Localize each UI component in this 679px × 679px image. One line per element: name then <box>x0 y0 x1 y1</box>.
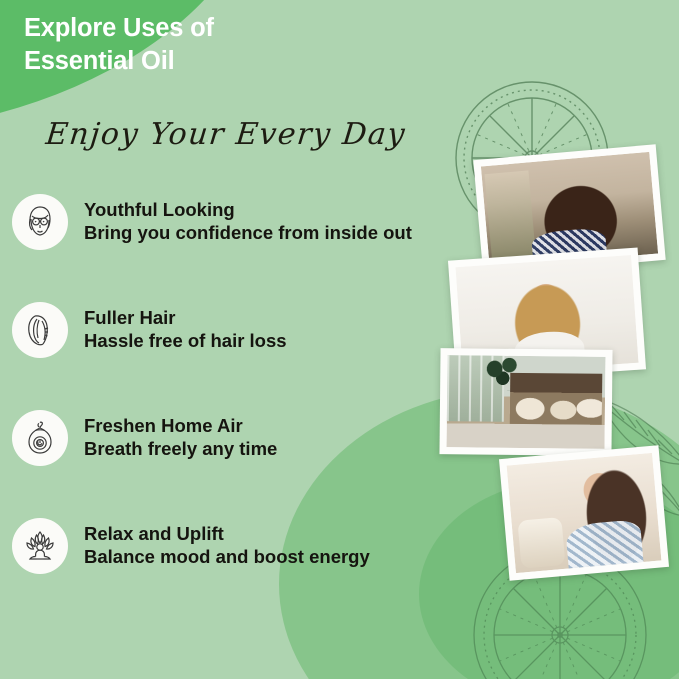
feature-subtitle: Hassle free of hair loss <box>84 330 287 353</box>
feature-item-youthful-looking: Youthful Looking Bring you confidence fr… <box>12 168 482 276</box>
page-title-line-1: Explore Uses of <box>24 12 324 45</box>
page-title-line-2: Essential Oil <box>24 45 324 78</box>
feature-text: Relax and Uplift Balance mood and boost … <box>84 523 370 568</box>
feature-text: Fuller Hair Hassle free of hair loss <box>84 307 287 352</box>
feature-title: Relax and Uplift <box>84 523 370 546</box>
page-title: Explore Uses of Essential Oil <box>24 12 324 77</box>
feature-item-relax-and-uplift: Relax and Uplift Balance mood and boost … <box>12 492 482 600</box>
feature-item-fuller-hair: Fuller Hair Hassle free of hair loss <box>12 276 482 384</box>
feature-title: Fuller Hair <box>84 307 287 330</box>
tagline: Enjoy Your Every Day <box>44 117 408 152</box>
long-hair-icon <box>12 302 68 358</box>
essential-oil-infographic: Explore Uses of Essential Oil Enjoy Your… <box>0 0 679 679</box>
feature-subtitle: Balance mood and boost energy <box>84 546 370 569</box>
feature-item-freshen-home-air: Freshen Home Air Breath freely any time <box>12 384 482 492</box>
face-mask-icon <box>12 194 68 250</box>
aroma-diffuser-icon <box>12 410 68 466</box>
photo-woman-applying-fragrance <box>499 445 669 580</box>
feature-text: Freshen Home Air Breath freely any time <box>84 415 277 460</box>
lotus-meditation-icon <box>12 518 68 574</box>
feature-title: Youthful Looking <box>84 199 412 222</box>
feature-list: Youthful Looking Bring you confidence fr… <box>12 168 482 600</box>
feature-title: Freshen Home Air <box>84 415 277 438</box>
feature-text: Youthful Looking Bring you confidence fr… <box>84 199 412 244</box>
feature-subtitle: Bring you confidence from inside out <box>84 222 412 245</box>
feature-subtitle: Breath freely any time <box>84 438 277 461</box>
